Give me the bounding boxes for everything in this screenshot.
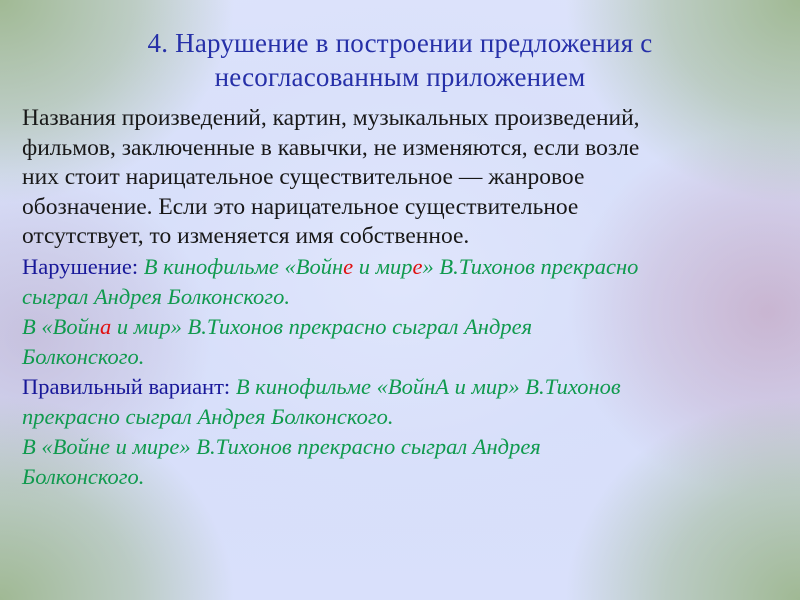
intro-line: них стоит нарицательное существительное … [22,163,780,193]
example-sentence-run: В кинофильме «ВойнА и мир» В.Тихонов [236,374,621,399]
example-line: прекрасно сыграл Андрея Болконского. [22,402,780,432]
highlighted-letter: е [413,254,423,279]
example-sentence-run: и мир [353,254,412,279]
example-sentence-run: В «Войн [22,314,100,339]
example-line: Правильный вариант: В кинофильме «ВойнА … [22,372,780,402]
intro-paragraph: Названия произведений, картин, музыкальн… [22,104,780,252]
slide-title: 4. Нарушение в построении предложения с … [40,26,760,94]
intro-line: обозначение. Если это нарицательное суще… [22,193,780,223]
example-paragraph: В «Война и мир» В.Тихонов прекрасно сыгр… [22,312,780,372]
example-line: Болконского. [22,342,780,372]
example-sentence-run: В «Войне и мире» В.Тихонов прекрасно сыг… [22,434,541,459]
intro-line: фильмов, заключенные в кавычки, не измен… [22,134,780,164]
intro-line: отсутствует, то изменяется имя собственн… [22,222,780,252]
slide-title-line-1: 4. Нарушение в построении предложения с [40,26,760,60]
highlighted-letter: е [343,254,353,279]
example-sentence-run: » В.Тихонов прекрасно [423,254,639,279]
example-paragraph: Правильный вариант: В кинофильме «ВойнА … [22,372,780,432]
highlighted-letter: а [100,314,111,339]
example-paragraph: Нарушение: В кинофильме «Войне и мире» В… [22,252,780,312]
example-line: В «Войне и мире» В.Тихонов прекрасно сыг… [22,432,780,462]
presentation-slide: 4. Нарушение в построении предложения с … [0,0,800,600]
example-sentence-run: и мир» В.Тихонов прекрасно сыграл Андрея [111,314,532,339]
example-sentence-run: Болконского. [22,344,144,369]
examples-list: Нарушение: В кинофильме «Войне и мире» В… [22,252,780,492]
example-line: Болконского. [22,462,780,492]
example-sentence-run: прекрасно сыграл Андрея Болконского. [22,404,394,429]
example-line: Нарушение: В кинофильме «Войне и мире» В… [22,252,780,282]
example-sentence-run: сыграл Андрея Болконского. [22,284,290,309]
example-paragraph: В «Войне и мире» В.Тихонов прекрасно сыг… [22,432,780,492]
example-label: Правильный вариант: [22,374,236,399]
example-line: сыграл Андрея Болконского. [22,282,780,312]
slide-body: Названия произведений, картин, музыкальн… [22,104,780,492]
slide-title-line-2: несогласованным приложением [40,60,760,94]
example-sentence-run: В кинофильме «Войн [144,254,343,279]
intro-line: Названия произведений, картин, музыкальн… [22,104,780,134]
example-line: В «Война и мир» В.Тихонов прекрасно сыгр… [22,312,780,342]
example-label: Нарушение: [22,254,144,279]
example-sentence-run: Болконского. [22,464,144,489]
